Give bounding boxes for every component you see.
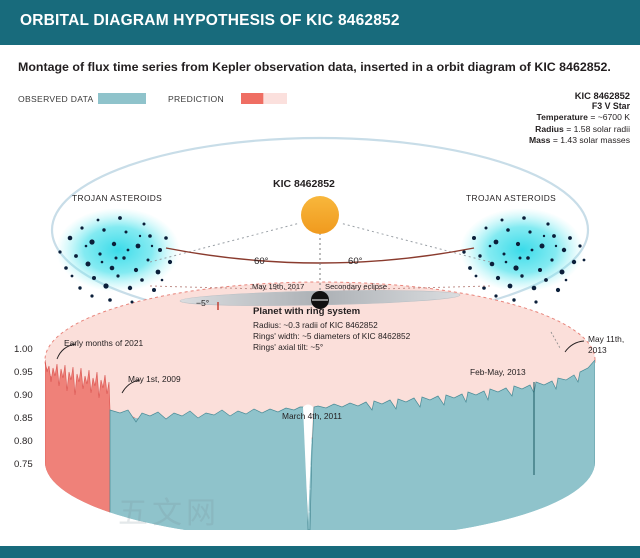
annotation-may-2009: May 1st, 2009 [128,374,181,384]
label-secondary-eclipse: Secondary eclipse [325,282,387,291]
annotation-may-11-2013-line1: May 11th, [588,334,624,344]
annotation-march-2011: March 4th, 2011 [282,411,342,421]
label-angle-left: 60° [254,256,269,267]
label-trojan-left: TROJAN ASTEROIDS [72,193,162,203]
label-angle-right: 60° [348,256,363,267]
label-star-name: KIC 8462852 [273,178,335,190]
planet-description-line-1: Radius: ~0.3 radii of KIC 8462852 [253,320,468,331]
axis-tick-3: 0.90 [14,390,33,401]
axis-tick-6: 0.75 [14,459,33,470]
planet-description: Planet with ring system Radius: ~0.3 rad… [253,306,468,353]
label-trojan-right: TROJAN ASTEROIDS [466,193,556,203]
label-ring-tilt: −5° [196,298,209,308]
axis-tick-5: 0.80 [14,436,33,447]
legend-swatch-observed [98,93,146,104]
footer-bar [0,546,640,558]
legend-label-prediction: PREDICTION [168,94,224,104]
page-title: ORBITAL DIAGRAM HYPOTHESIS OF KIC 846285… [20,12,400,30]
legend-item-prediction: PREDICTION [168,92,298,106]
annotation-may-11-2013-line2: 2013 [588,345,607,355]
annotation-feb-may-2013: Feb-May, 2013 [470,367,526,377]
flux-trace-prediction [45,360,110,530]
label-date-eclipse: May 19th, 2017 [252,282,304,291]
infographic-root: ORBITAL DIAGRAM HYPOTHESIS OF KIC 846285… [0,0,640,558]
planet-description-line-3: Rings' axial tilt: ~5° [253,342,468,353]
planet-description-title: Planet with ring system [253,306,468,317]
axis-tick-2: 0.95 [14,367,33,378]
legend-label-observed: OBSERVED DATA [18,94,94,104]
planet-description-line-2: Rings' width: ~5 diameters of KIC 846285… [253,331,468,342]
axis-tick-4: 0.85 [14,413,33,424]
legend-swatch-prediction [241,93,287,104]
legend-item-observed: OBSERVED DATA [18,92,153,106]
star-info-name: KIC 8462852 [450,90,630,101]
annotation-early-2021: Early months of 2021 [64,338,143,348]
subtitle: Montage of flux time series from Kepler … [18,60,618,74]
trojan-cloud-right [460,208,585,304]
central-star [301,196,339,234]
axis-tick-1: 1.00 [14,344,33,355]
trojan-cloud-left [56,208,180,304]
angle-arc [166,248,474,263]
orbit-diagram-scene: TROJAN ASTEROIDS TROJAN ASTEROIDS KIC 84… [0,110,640,530]
